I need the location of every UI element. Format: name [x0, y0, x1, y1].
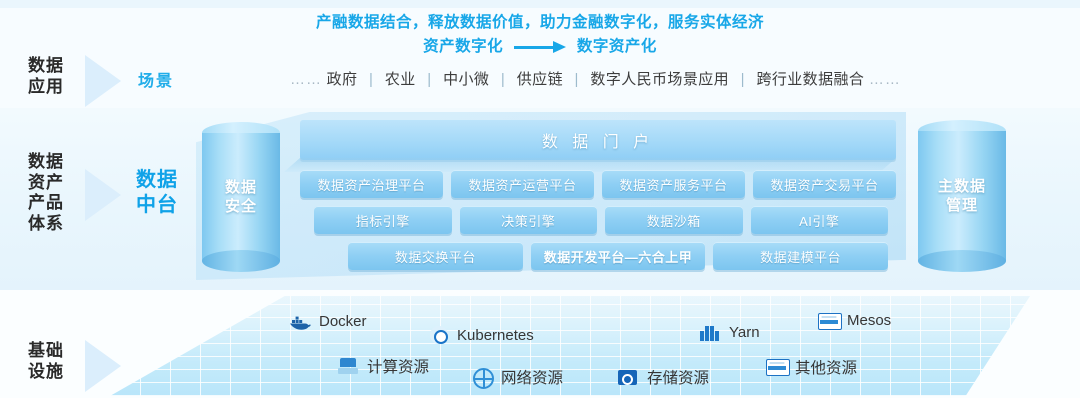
engine-box[interactable]: 指标引擎: [314, 206, 452, 234]
arrow-right-icon: [514, 41, 566, 53]
bottom-band: [0, 398, 1080, 407]
kubernetes-helm-icon: [428, 326, 450, 344]
infra-label: Kubernetes: [457, 327, 534, 344]
architecture-diagram: 产融数据结合，释放数据价值，助力金融数字化，服务实体经济 资产数字化 数字资产化…: [0, 0, 1080, 407]
infra-item-docker[interactable]: Docker: [288, 313, 367, 330]
headline-line-2-left: 资产数字化: [423, 38, 503, 55]
engine-box[interactable]: AI引擎: [751, 206, 889, 234]
headline-line-1: 产融数据结合，释放数据价值，助力金融数字化，服务实体经济: [316, 14, 764, 31]
asset-platform-row-2: 指标引擎 决策引擎 数据沙箱 AI引擎: [314, 206, 888, 234]
master-data-management-cylinder[interactable]: 主数据管理: [918, 120, 1006, 272]
network-globe-icon: [472, 368, 494, 386]
asset-platform-row-3: 数据交换平台 数据开发平台—六合上甲 数据建模平台: [348, 242, 888, 270]
engine-box[interactable]: 数据沙箱: [605, 206, 743, 234]
master-data-cylinder-wrap: 主数据管理: [928, 112, 1016, 272]
infra-item-compute-resource[interactable]: 计算资源: [338, 355, 429, 377]
layer-arrow-asset-product: [85, 169, 121, 221]
infra-label: Docker: [319, 313, 367, 330]
platform-box[interactable]: 数据交换平台: [348, 242, 523, 270]
scenario-leading-dots: ……: [290, 71, 322, 88]
infra-item-mesos[interactable]: Mesos: [818, 312, 891, 329]
platform-box[interactable]: 数据资产交易平台: [753, 170, 896, 198]
infra-item-storage-resource[interactable]: 存储资源: [618, 366, 709, 388]
scenario-item-2[interactable]: 中小微: [443, 71, 489, 88]
infra-label: 网络资源: [501, 366, 563, 388]
scenario-trailing-dots: ……: [869, 71, 901, 88]
data-portal-banner[interactable]: 数 据 门 户: [300, 120, 896, 160]
platform-box[interactable]: 数据资产服务平台: [602, 170, 745, 198]
infra-item-yarn[interactable]: Yarn: [700, 324, 760, 341]
scenario-item-5[interactable]: 跨行业数据融合: [756, 71, 864, 88]
infra-label: 其他资源: [795, 356, 857, 378]
platform-box[interactable]: 数据资产治理平台: [300, 170, 443, 198]
yarn-bars-icon: [700, 325, 722, 341]
layer-arrow-application: [85, 55, 121, 107]
infra-item-kubernetes[interactable]: Kubernetes: [428, 326, 534, 344]
platform-box-highlighted[interactable]: 数据开发平台—六合上甲: [531, 242, 706, 270]
scenario-item-1[interactable]: 农业: [385, 71, 416, 88]
engine-box[interactable]: 决策引擎: [460, 206, 598, 234]
platform-stage: 数据安全 数 据 门 户 数据资产治理平台 数据资产运营平台 数据资产服务平台 …: [196, 112, 906, 280]
infra-item-network-resource[interactable]: 网络资源: [472, 366, 563, 388]
scenario-separator: |: [427, 71, 431, 88]
data-security-label: 数据安全: [202, 122, 280, 272]
headline: 产融数据结合，释放数据价值，助力金融数字化，服务实体经济 资产数字化 数字资产化: [0, 11, 1080, 59]
scenario-section-title: 场景: [138, 67, 218, 91]
infra-label: Mesos: [847, 312, 891, 329]
infra-label: 计算资源: [367, 355, 429, 377]
platform-box[interactable]: 数据资产运营平台: [451, 170, 594, 198]
mesos-card-icon: [818, 313, 840, 329]
scenario-item-3[interactable]: 供应链: [517, 71, 563, 88]
master-data-label: 主数据管理: [918, 120, 1006, 272]
scenario-separator: |: [501, 71, 505, 88]
compute-resource-icon: [338, 358, 360, 375]
scenario-item-4[interactable]: 数字人民币场景应用: [590, 71, 729, 88]
other-resource-icon: [766, 359, 788, 375]
infra-item-other-resource[interactable]: 其他资源: [766, 356, 857, 378]
headline-line-2: 资产数字化 数字资产化: [0, 35, 1080, 59]
docker-whale-icon: [288, 314, 312, 330]
asset-platform-row-1: 数据资产治理平台 数据资产运营平台 数据资产服务平台 数据资产交易平台: [300, 170, 896, 198]
headline-line-2-right: 数字资产化: [577, 38, 657, 55]
scenario-item-0[interactable]: 政府: [327, 71, 358, 88]
scenario-separator: |: [741, 71, 745, 88]
scenario-separator: |: [369, 71, 373, 88]
top-accent-band: [0, 0, 1080, 8]
scenario-separator: |: [575, 71, 579, 88]
infra-label: Yarn: [729, 324, 760, 341]
data-security-cylinder[interactable]: 数据安全: [202, 122, 280, 272]
layer-arrow-infrastructure: [85, 340, 121, 392]
platform-box[interactable]: 数据建模平台: [713, 242, 888, 270]
scenario-list: …… 政府 | 农业 | 中小微 | 供应链 | 数字人民币场景应用 | 跨行业…: [290, 68, 910, 89]
storage-disk-icon: [618, 369, 640, 386]
infra-label: 存储资源: [647, 366, 709, 388]
